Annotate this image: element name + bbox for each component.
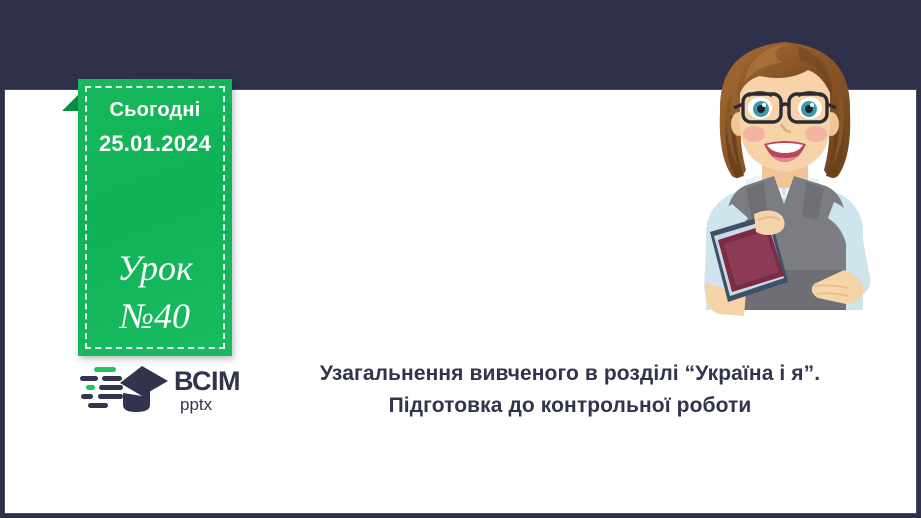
date-lesson-card: Сьогодні 25.01.2024 Урок №40 xyxy=(78,79,232,356)
card-fold-corner xyxy=(62,79,78,111)
lesson-number: №40 xyxy=(78,295,232,337)
teacher-illustration xyxy=(648,20,921,320)
lesson-word: Урок xyxy=(78,247,232,289)
graduation-cap-icon xyxy=(80,366,168,412)
vsim-pptx-logo[interactable]: ВСІМ pptx xyxy=(80,363,240,415)
title-line-1: Узагальнення вивченого в розділі “Україн… xyxy=(250,358,890,390)
today-date: 25.01.2024 xyxy=(78,131,232,157)
title-line-2: Підготовка до контрольної роботи xyxy=(250,390,890,422)
cheek-left xyxy=(743,126,765,142)
cheek-right xyxy=(805,126,827,142)
logo-suffix-text: pptx xyxy=(180,395,213,414)
slide-canvas: Сьогодні 25.01.2024 Урок №40 ВСІМ pptx У… xyxy=(0,0,921,518)
today-label: Сьогодні xyxy=(78,99,232,122)
logo-brand-text: ВСІМ xyxy=(174,366,240,396)
slide-title: Узагальнення вивченого в розділі “Україн… xyxy=(250,358,890,422)
